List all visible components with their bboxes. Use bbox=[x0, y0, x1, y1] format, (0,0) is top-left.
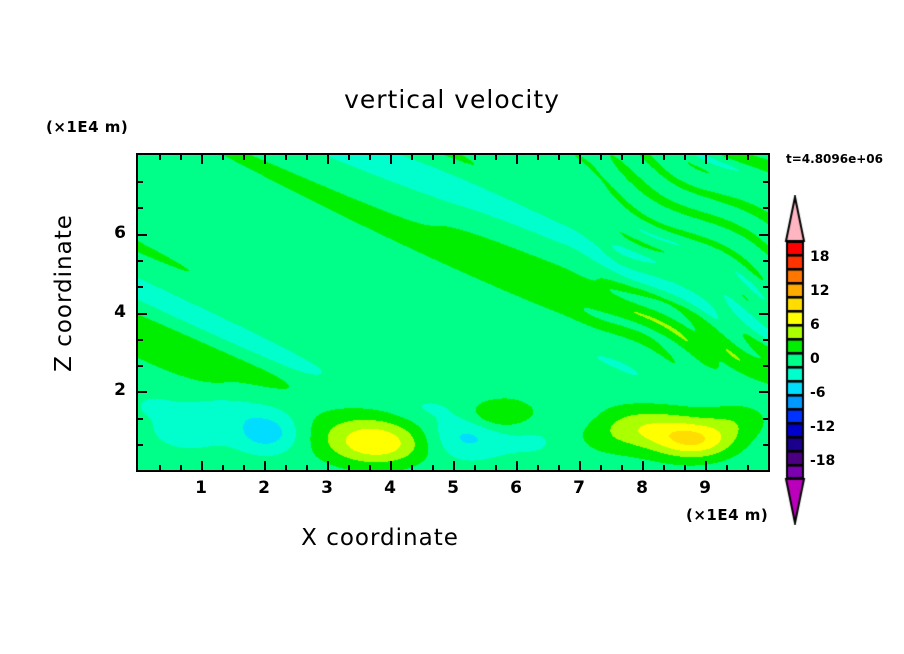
tick-mark bbox=[747, 465, 749, 470]
tick-mark bbox=[264, 461, 266, 470]
tick-mark bbox=[306, 465, 308, 470]
tick-mark bbox=[432, 155, 434, 160]
tick-mark bbox=[579, 155, 581, 164]
tick-mark bbox=[621, 465, 623, 470]
tick-mark bbox=[474, 155, 476, 160]
tick-mark bbox=[138, 365, 143, 367]
tick-mark bbox=[579, 461, 581, 470]
tick-mark bbox=[495, 465, 497, 470]
tick-mark bbox=[663, 155, 665, 160]
x-tick-label: 1 bbox=[181, 478, 221, 498]
y-tick-label: 4 bbox=[86, 302, 126, 322]
colorbar-tick-label: -6 bbox=[810, 385, 826, 401]
tick-mark bbox=[243, 465, 245, 470]
tick-mark bbox=[726, 465, 728, 470]
colorbar: 181260-6-12-18 bbox=[778, 195, 904, 525]
tick-mark bbox=[285, 155, 287, 160]
tick-mark bbox=[763, 286, 768, 288]
tick-mark bbox=[495, 155, 497, 160]
tick-mark bbox=[201, 155, 203, 164]
figure-canvas: vertical velocity (×1E4 m) (×1E4 m) t=4.… bbox=[0, 0, 904, 654]
tick-mark bbox=[138, 418, 143, 420]
tick-mark bbox=[763, 418, 768, 420]
tick-mark bbox=[369, 155, 371, 160]
tick-mark bbox=[558, 465, 560, 470]
tick-mark bbox=[138, 391, 147, 393]
tick-mark bbox=[138, 207, 143, 209]
tick-mark bbox=[327, 461, 329, 470]
tick-mark bbox=[180, 155, 182, 160]
tick-mark bbox=[537, 465, 539, 470]
tick-mark bbox=[763, 365, 768, 367]
tick-mark bbox=[138, 313, 147, 315]
tick-mark bbox=[222, 465, 224, 470]
x-tick-label: 2 bbox=[244, 478, 284, 498]
tick-mark bbox=[537, 155, 539, 160]
tick-mark bbox=[759, 234, 768, 236]
colorbar-tick-label: 0 bbox=[810, 351, 820, 367]
tick-mark bbox=[138, 260, 143, 262]
tick-mark bbox=[763, 444, 768, 446]
tick-mark bbox=[600, 465, 602, 470]
tick-mark bbox=[516, 461, 518, 470]
colorbar-gradient bbox=[782, 195, 808, 525]
x-tick-label: 4 bbox=[370, 478, 410, 498]
tick-mark bbox=[264, 155, 266, 164]
y-tick-label: 6 bbox=[86, 223, 126, 243]
tick-mark bbox=[201, 461, 203, 470]
tick-mark bbox=[759, 391, 768, 393]
tick-mark bbox=[763, 260, 768, 262]
tick-mark bbox=[159, 155, 161, 160]
tick-mark bbox=[726, 155, 728, 160]
x-tick-label: 5 bbox=[433, 478, 473, 498]
tick-mark bbox=[348, 155, 350, 160]
tick-mark bbox=[138, 234, 147, 236]
tick-mark bbox=[180, 465, 182, 470]
x-tick-label: 6 bbox=[496, 478, 536, 498]
tick-mark bbox=[138, 286, 143, 288]
tick-mark bbox=[600, 155, 602, 160]
tick-mark bbox=[243, 155, 245, 160]
y-axis-title: Z coordinate bbox=[51, 193, 77, 393]
timestamp-annotation: t=4.8096e+06 bbox=[786, 152, 883, 166]
y-axis-units-label: (×1E4 m) bbox=[46, 118, 128, 136]
tick-mark bbox=[705, 461, 707, 470]
tick-mark bbox=[516, 155, 518, 164]
x-tick-label: 3 bbox=[307, 478, 347, 498]
tick-mark bbox=[663, 465, 665, 470]
colorbar-tick-label: -18 bbox=[810, 453, 835, 469]
x-axis-title: X coordinate bbox=[0, 525, 760, 551]
tick-mark bbox=[684, 155, 686, 160]
colorbar-tick-label: 12 bbox=[810, 283, 829, 299]
tick-mark bbox=[411, 465, 413, 470]
tick-mark bbox=[763, 339, 768, 341]
tick-mark bbox=[138, 339, 143, 341]
tick-mark bbox=[453, 461, 455, 470]
tick-mark bbox=[474, 465, 476, 470]
tick-mark bbox=[369, 465, 371, 470]
tick-mark bbox=[411, 155, 413, 160]
tick-mark bbox=[558, 155, 560, 160]
tick-mark bbox=[453, 155, 455, 164]
x-tick-label: 9 bbox=[685, 478, 725, 498]
x-axis-units-label: (×1E4 m) bbox=[686, 506, 768, 524]
tick-mark bbox=[306, 155, 308, 160]
tick-mark bbox=[763, 181, 768, 183]
x-tick-label: 7 bbox=[559, 478, 599, 498]
tick-mark bbox=[684, 465, 686, 470]
plot-frame bbox=[136, 153, 770, 472]
tick-mark bbox=[138, 181, 143, 183]
y-tick-label: 2 bbox=[86, 380, 126, 400]
tick-mark bbox=[432, 465, 434, 470]
tick-mark bbox=[747, 155, 749, 160]
tick-mark bbox=[348, 465, 350, 470]
tick-mark bbox=[759, 313, 768, 315]
page-title: vertical velocity bbox=[0, 85, 904, 114]
tick-mark bbox=[621, 155, 623, 160]
tick-mark bbox=[763, 207, 768, 209]
tick-mark bbox=[285, 465, 287, 470]
tick-mark bbox=[327, 155, 329, 164]
colorbar-tick-label: 18 bbox=[810, 249, 829, 265]
tick-mark bbox=[390, 155, 392, 164]
colorbar-tick-label: -12 bbox=[810, 419, 835, 435]
x-tick-label: 8 bbox=[622, 478, 662, 498]
colorbar-tick-label: 6 bbox=[810, 317, 820, 333]
tick-mark bbox=[138, 444, 143, 446]
tick-mark bbox=[642, 461, 644, 470]
tick-mark bbox=[222, 155, 224, 160]
tick-mark bbox=[642, 155, 644, 164]
tick-mark bbox=[159, 465, 161, 470]
tick-mark bbox=[390, 461, 392, 470]
tick-mark bbox=[705, 155, 707, 164]
